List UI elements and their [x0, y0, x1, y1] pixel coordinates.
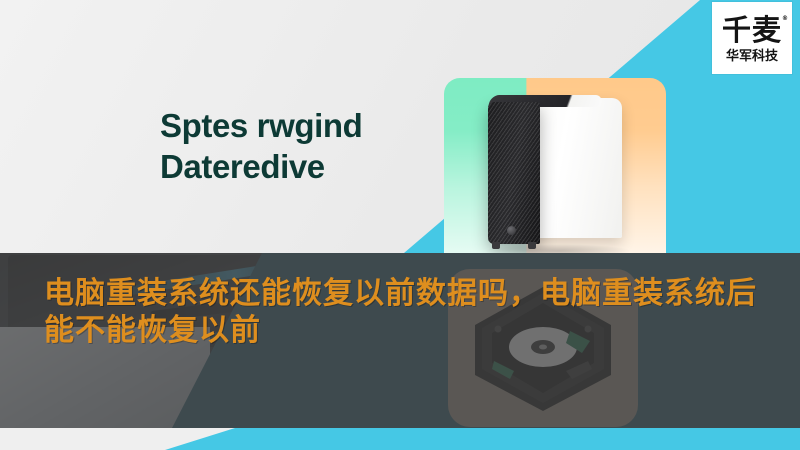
drive-front-panel-icon — [488, 102, 540, 244]
caption-title: 电脑重装系统还能恢复以前数据吗，电脑重装系统后能不能恢复以前 — [44, 276, 764, 350]
drive-shadow — [484, 244, 632, 253]
thumbnail-image: Sptes rwgind Dateredive 千麦 ® 华军科技 — [0, 0, 800, 450]
brand-name-text: 千麦 — [722, 13, 782, 47]
brand-name-sub: 华军科技 — [726, 50, 778, 63]
page-title: Sptes rwgind Dateredive — [160, 105, 362, 188]
brand-name-main: 千麦 ® — [722, 16, 782, 45]
footer-strip — [0, 428, 800, 450]
drive-foot-right — [528, 242, 536, 249]
footer-cyan-wedge — [0, 428, 800, 450]
brand-logo: 千麦 ® 华军科技 — [712, 2, 792, 74]
product-card — [444, 78, 666, 253]
trademark-icon: ® — [782, 16, 789, 22]
drive-foot-left — [492, 242, 500, 249]
hero-banner: Sptes rwgind Dateredive 千麦 ® 华军科技 — [0, 0, 800, 253]
